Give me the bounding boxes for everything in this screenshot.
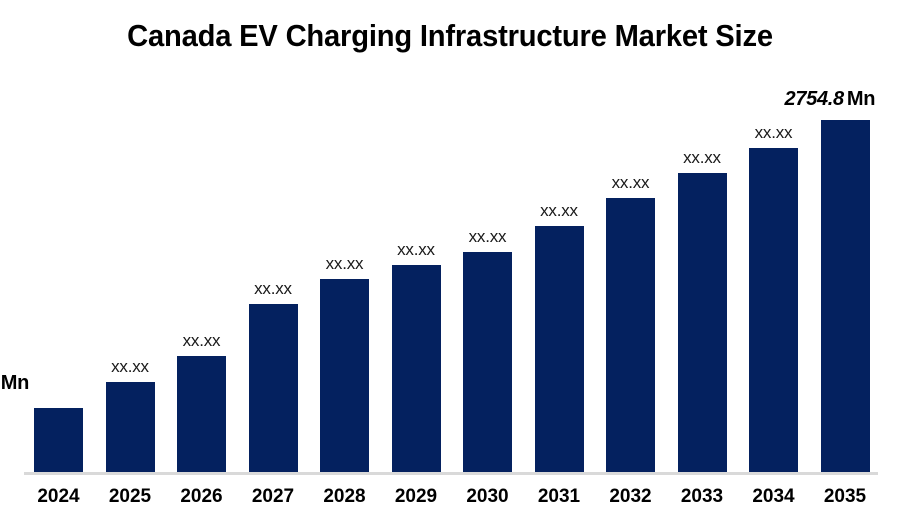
bar-value-label-2026: xx.xx: [157, 331, 246, 351]
bar-2035[interactable]: [821, 120, 870, 472]
x-axis-label-2031: 2031: [520, 486, 599, 508]
bar-2027[interactable]: [249, 304, 298, 472]
x-axis-label-2034: 2034: [734, 486, 813, 508]
plot-area: 428.7Mnxx.xxxx.xxxx.xxxx.xxxx.xxxx.xxxx.…: [0, 0, 900, 525]
x-axis-baseline: [24, 472, 878, 475]
bar-2034[interactable]: [749, 148, 798, 472]
bar-2031[interactable]: [535, 226, 584, 472]
x-axis-label-2030: 2030: [448, 486, 527, 508]
bar-2030[interactable]: [463, 252, 512, 472]
bar-value-label-2035: 2754.8Mn: [785, 88, 900, 111]
bar-2033[interactable]: [678, 173, 727, 472]
x-axis-label-2027: 2027: [234, 486, 313, 508]
bar-value-label-2027: xx.xx: [229, 279, 318, 299]
bar-2025[interactable]: [106, 382, 155, 472]
bar-2028[interactable]: [320, 279, 369, 472]
x-axis-label-2029: 2029: [377, 486, 456, 508]
bar-2024[interactable]: [34, 408, 83, 472]
bar-2029[interactable]: [392, 265, 441, 472]
x-axis-label-2026: 2026: [162, 486, 241, 508]
bar-value-number-2035: 2754.8: [785, 88, 844, 110]
chart-container: Canada EV Charging Infrastructure Market…: [0, 0, 900, 525]
x-axis-label-2032: 2032: [591, 486, 670, 508]
x-axis-label-2024: 2024: [19, 486, 98, 508]
x-axis-label-2028: 2028: [305, 486, 384, 508]
bar-2032[interactable]: [606, 198, 655, 472]
bar-value-unit-2035: Mn: [847, 88, 875, 110]
bar-value-label-2031: xx.xx: [515, 201, 604, 221]
bar-2026[interactable]: [177, 356, 226, 472]
bar-value-label-2033: xx.xx: [658, 148, 747, 168]
bar-value-label-2032: xx.xx: [586, 173, 675, 193]
x-axis-label-2033: 2033: [663, 486, 742, 508]
bar-value-unit-2024: Mn: [1, 372, 29, 394]
bar-value-label-2025: xx.xx: [86, 357, 175, 377]
bar-value-label-2030: xx.xx: [443, 227, 532, 247]
bar-value-label-2024: 428.7Mn: [0, 372, 29, 395]
bar-value-label-2034: xx.xx: [729, 123, 818, 143]
x-axis-label-2035: 2035: [806, 486, 885, 508]
x-axis-label-2025: 2025: [91, 486, 170, 508]
